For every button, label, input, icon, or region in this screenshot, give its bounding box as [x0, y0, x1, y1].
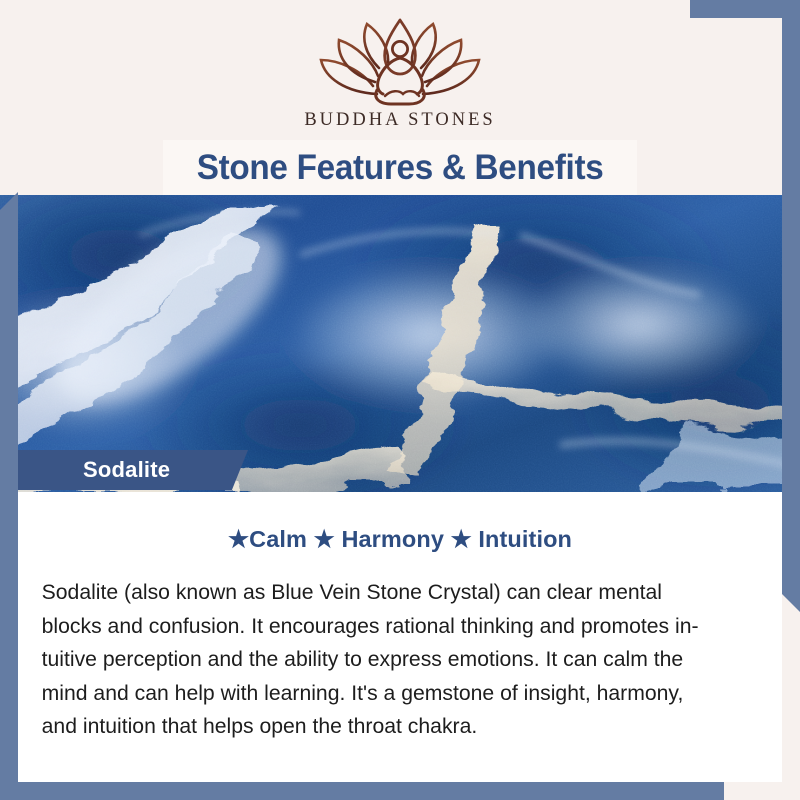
description-line: and intuition that helps open the throat… — [42, 710, 747, 744]
sodalite-texture-graphic — [0, 195, 800, 492]
description-line: blocks and confusion. It encourages rati… — [42, 610, 747, 644]
description-block: Sodalite (also known as Blue Vein Stone … — [18, 553, 771, 744]
description-line: mind and can help with learning. It's a … — [42, 677, 747, 711]
decor-band-left — [0, 192, 18, 792]
description-line: Sodalite (also known as Blue Vein Stone … — [42, 576, 747, 610]
title-band: Stone Features & Benefits — [163, 140, 637, 195]
keywords-line: ★Calm ★ Harmony ★ Intuition — [18, 492, 782, 553]
decor-band-right — [782, 0, 800, 612]
brand-logo: BUDDHA STONES — [0, 16, 800, 131]
stone-name-label: Sodalite — [18, 457, 170, 483]
brand-name: BUDDHA STONES — [0, 110, 800, 131]
content-panel: ★Calm ★ Harmony ★ Intuition Sodalite (al… — [18, 492, 782, 782]
stone-name-banner: Sodalite — [18, 450, 248, 490]
description-line: tuitive perception and the ability to ex… — [42, 643, 747, 677]
page-title: Stone Features & Benefits — [197, 148, 604, 188]
poster-root: BUDDHA STONES Stone Features & Benefits — [0, 0, 800, 800]
lotus-meditation-figure-icon — [315, 16, 485, 108]
decor-band-bottom — [0, 782, 724, 800]
stone-image — [0, 195, 800, 492]
